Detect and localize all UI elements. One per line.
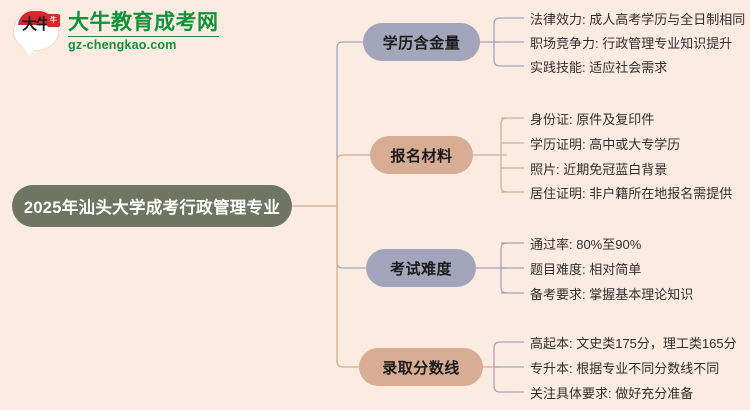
logo-divider bbox=[68, 36, 219, 37]
mindmap-leaf-4-3[interactable]: 关注具体要求: 做好充分准备 bbox=[530, 387, 693, 400]
mindmap-leaf-1-3[interactable]: 实践技能: 适应社会需求 bbox=[530, 61, 667, 74]
trunk-to-branch-3 bbox=[337, 206, 366, 268]
trunk-to-branch-1 bbox=[337, 42, 363, 206]
mindmap-leaf-2-1[interactable]: 身份证: 原件及复印件 bbox=[530, 113, 654, 126]
mindmap-leaf-3-2[interactable]: 题目难度: 相对简单 bbox=[530, 263, 641, 276]
trunk-to-branch-4 bbox=[337, 206, 359, 367]
mindmap-leaf-2-4[interactable]: 居住证明: 非户籍所在地报名需提供 bbox=[530, 187, 732, 200]
mindmap-leaf-4-2[interactable]: 专升本: 根据专业不同分数线不同 bbox=[530, 362, 719, 375]
logo-title: 大牛教育成考网 bbox=[68, 12, 219, 34]
trunk-to-branch-2 bbox=[337, 155, 370, 206]
mindmap-leaf-4-1[interactable]: 高起本: 文史类175分，理工类165分 bbox=[530, 337, 737, 350]
mindmap-leaf-2-3[interactable]: 照片: 近期免冠蓝白背景 bbox=[530, 163, 667, 176]
mindmap-leaf-1-1[interactable]: 法律效力: 成人高考学历与全日制相同 bbox=[530, 13, 745, 26]
mindmap-root-node[interactable]: 2025年汕头大学成考行政管理专业 bbox=[12, 185, 292, 227]
mindmap-leaf-3-1[interactable]: 通过率: 80%至90% bbox=[530, 238, 641, 251]
mindmap-leaf-2-2[interactable]: 学历证明: 高中或大专学历 bbox=[530, 138, 680, 151]
mindmap-branch-node-4[interactable]: 录取分数线 bbox=[359, 348, 483, 386]
logo-mark-icon: 大牛 牛 bbox=[14, 8, 62, 56]
logo-domain: gz-chengkao.com bbox=[68, 39, 219, 52]
seal-icon: 牛 bbox=[47, 14, 60, 27]
mindmap-branch-node-3[interactable]: 考试难度 bbox=[366, 249, 476, 287]
mindmap-canvas: 大牛 牛 大牛教育成考网 gz-chengkao.com 2025年汕头大学成考… bbox=[0, 0, 750, 410]
mindmap-branch-node-1[interactable]: 学历含金量 bbox=[363, 23, 480, 61]
mindmap-branch-node-2[interactable]: 报名材料 bbox=[370, 136, 473, 174]
mindmap-leaf-1-2[interactable]: 职场竞争力: 行政管理专业知识提升 bbox=[530, 37, 732, 50]
logo-text-block: 大牛教育成考网 gz-chengkao.com bbox=[68, 12, 219, 52]
mindmap-leaf-3-3[interactable]: 备考要求: 掌握基本理论知识 bbox=[530, 288, 693, 301]
site-logo[interactable]: 大牛 牛 大牛教育成考网 gz-chengkao.com bbox=[14, 8, 219, 56]
